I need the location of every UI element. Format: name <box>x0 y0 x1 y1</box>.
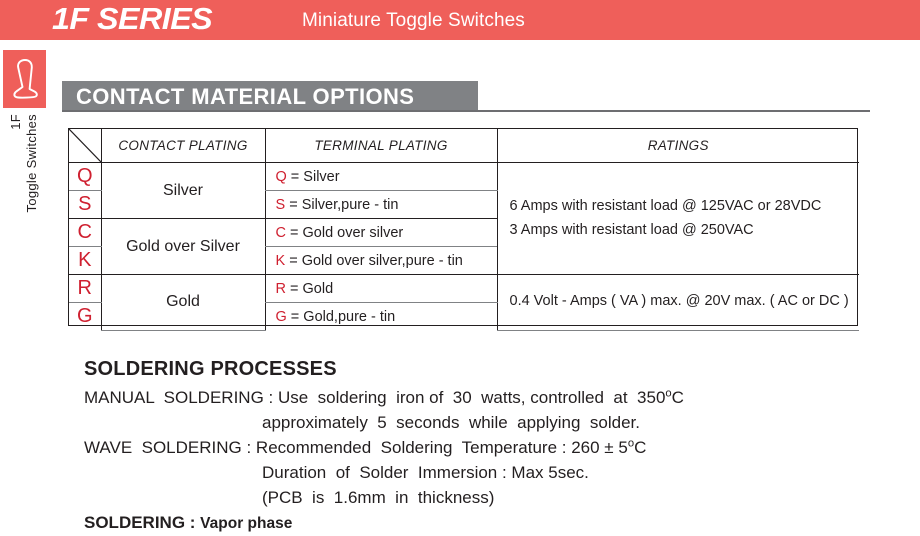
section-heading: CONTACT MATERIAL OPTIONS <box>76 84 414 110</box>
vapor-soldering-label: SOLDERING : <box>84 513 200 532</box>
side-tab-label: 1F Toggle Switches <box>0 112 44 232</box>
terminal-text-q: = Silver <box>287 169 340 185</box>
row-terminal-k: K = Gold over silver,pure - tin <box>265 247 497 275</box>
side-label-line-1: 1F <box>8 114 23 130</box>
header-contact-plating: CONTACT PLATING <box>101 129 265 163</box>
row-terminal-c: C = Gold over silver <box>265 219 497 247</box>
terminal-key-k: K <box>276 253 286 269</box>
row-plating-gold-over-silver: Gold over Silver <box>101 219 265 275</box>
row-code-r: R <box>69 275 101 303</box>
toggle-switch-icon <box>3 50 46 108</box>
soldering-title: SOLDERING PROCESSES <box>84 358 884 381</box>
terminal-key-s: S <box>276 197 286 213</box>
wave-soldering-line-2: Duration of Solder Immersion : Max 5sec. <box>84 461 884 486</box>
wave-degree-unit: C <box>634 438 646 457</box>
vapor-soldering-line: SOLDERING : Vapor phase <box>84 511 884 536</box>
row-terminal-g: G = Gold,pure - tin <box>265 303 497 331</box>
terminal-text-s: = Silver,pure - tin <box>285 197 398 213</box>
terminal-key-q: Q <box>276 169 287 185</box>
terminal-text-k: = Gold over silver,pure - tin <box>285 253 463 269</box>
section-divider-rule <box>62 110 870 112</box>
terminal-text-r: = Gold <box>286 281 333 297</box>
table-header-row: CONTACT PLATING TERMINAL PLATING RATINGS <box>69 129 859 163</box>
ratings-group-1: 6 Amps with resistant load @ 125VAC or 2… <box>497 163 859 275</box>
row-code-s: S <box>69 191 101 219</box>
manual-soldering-line-2: approximately 5 seconds while applying s… <box>84 411 884 436</box>
ratings-group-1-line-1: 6 Amps with resistant load @ 125VAC or 2… <box>510 195 860 219</box>
wave-soldering-line-3: (PCB is 1.6mm in thickness) <box>84 486 884 511</box>
row-terminal-s: S = Silver,pure - tin <box>265 191 497 219</box>
contact-material-options-table: CONTACT PLATING TERMINAL PLATING RATINGS… <box>68 128 858 326</box>
header-ratings: RATINGS <box>497 129 859 163</box>
table-corner-cell <box>69 129 101 163</box>
section-header-bar: CONTACT MATERIAL OPTIONS <box>62 81 478 110</box>
terminal-text-g: = Gold,pure - tin <box>287 309 395 325</box>
manual-soldering-text: MANUAL SOLDERING : Use soldering iron of… <box>84 388 665 407</box>
terminal-key-r: R <box>276 281 286 297</box>
ratings-group-1-line-2: 3 Amps with resistant load @ 250VAC <box>510 219 860 243</box>
row-code-q: Q <box>69 163 101 191</box>
side-tab-toggle-switches <box>3 50 46 108</box>
row-terminal-r: R = Gold <box>265 275 497 303</box>
row-code-g: G <box>69 303 101 331</box>
terminal-text-c: = Gold over silver <box>286 225 403 241</box>
side-label-line-2: Toggle Switches <box>24 114 39 212</box>
terminal-key-g: G <box>276 309 287 325</box>
row-plating-silver: Silver <box>101 163 265 219</box>
series-title: 1F SERIES <box>52 1 212 37</box>
table-row: R Gold R = Gold 0.4 Volt - Amps ( VA ) m… <box>69 275 859 303</box>
page-banner: 1F SERIES Miniature Toggle Switches <box>0 0 920 40</box>
row-terminal-q: Q = Silver <box>265 163 497 191</box>
diagonal-slash-icon <box>69 129 101 162</box>
row-code-c: C <box>69 219 101 247</box>
soldering-processes-section: SOLDERING PROCESSES MANUAL SOLDERING : U… <box>84 358 884 536</box>
series-subtitle: Miniature Toggle Switches <box>302 10 525 32</box>
row-code-k: K <box>69 247 101 275</box>
manual-degree-unit: C <box>672 388 684 407</box>
vapor-soldering-value: Vapor phase <box>200 515 292 532</box>
header-terminal-plating: TERMINAL PLATING <box>265 129 497 163</box>
wave-soldering-text: WAVE SOLDERING : Recommended Soldering T… <box>84 438 628 457</box>
ratings-group-2: 0.4 Volt - Amps ( VA ) max. @ 20V max. (… <box>497 275 859 331</box>
terminal-key-c: C <box>276 225 286 241</box>
manual-soldering-line-1: MANUAL SOLDERING : Use soldering iron of… <box>84 386 884 411</box>
row-plating-gold: Gold <box>101 275 265 331</box>
wave-soldering-line-1: WAVE SOLDERING : Recommended Soldering T… <box>84 436 884 461</box>
ratings-group-2-line-1: 0.4 Volt - Amps ( VA ) max. @ 20V max. (… <box>510 290 860 314</box>
table-row: Q Silver Q = Silver 6 Amps with resistan… <box>69 163 859 191</box>
